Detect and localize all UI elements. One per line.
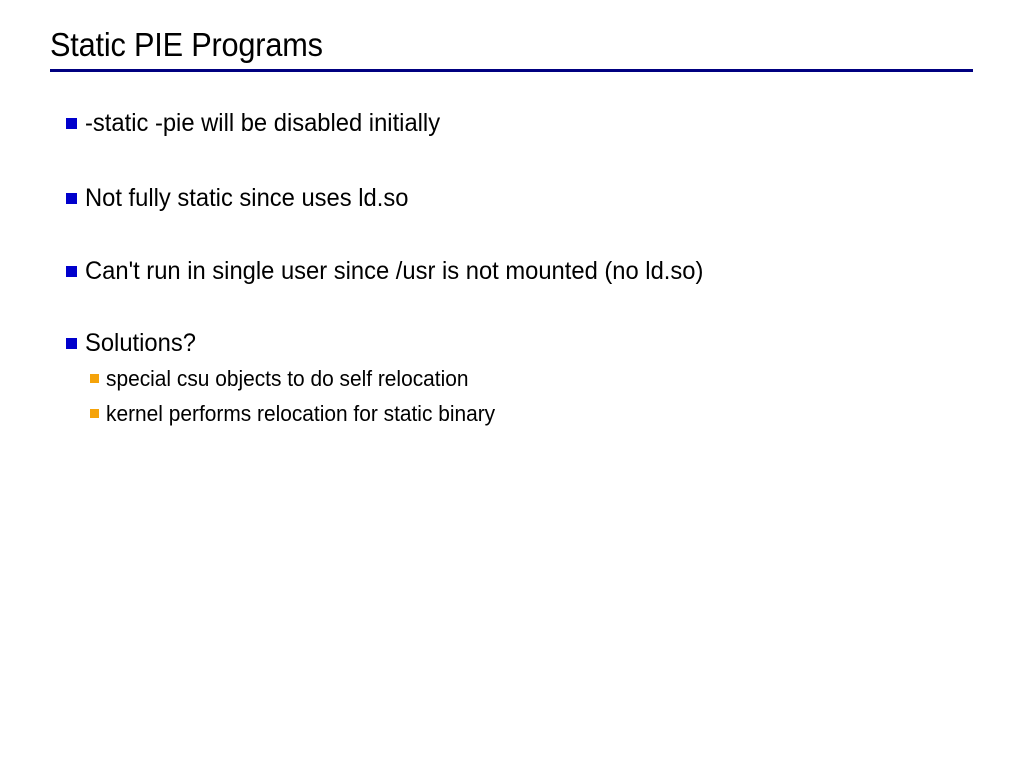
- list-item: Not fully static since uses ld.so: [66, 183, 425, 213]
- square-bullet-icon: [66, 338, 77, 349]
- square-bullet-icon: [90, 374, 99, 383]
- list-item-label: Not fully static since uses ld.so: [85, 183, 408, 213]
- square-bullet-icon: [66, 266, 77, 277]
- list-item: -static -pie will be disabled initially: [66, 108, 459, 138]
- list-item-label: Solutions?: [85, 328, 196, 358]
- title-underline-rule: [50, 69, 973, 72]
- square-bullet-icon: [90, 409, 99, 418]
- page-title: Static PIE Programs: [50, 26, 909, 64]
- square-bullet-icon: [66, 193, 77, 204]
- sub-list-item-label: special csu objects to do self relocatio…: [106, 365, 468, 392]
- slide-canvas: Static PIE Programs -static -pie will be…: [0, 0, 1024, 768]
- sub-list-item-label: kernel performs relocation for static bi…: [106, 400, 495, 427]
- sub-list-item: kernel performs relocation for static bi…: [90, 400, 516, 427]
- list-item: Can't run in single user since /usr is n…: [66, 256, 736, 286]
- sub-list-item: special csu objects to do self relocatio…: [90, 365, 488, 392]
- list-item: Solutions?: [66, 328, 202, 358]
- list-item-label: -static -pie will be disabled initially: [85, 108, 440, 138]
- slide-title-block: Static PIE Programs: [50, 26, 974, 64]
- square-bullet-icon: [66, 118, 77, 129]
- list-item-label: Can't run in single user since /usr is n…: [85, 256, 703, 286]
